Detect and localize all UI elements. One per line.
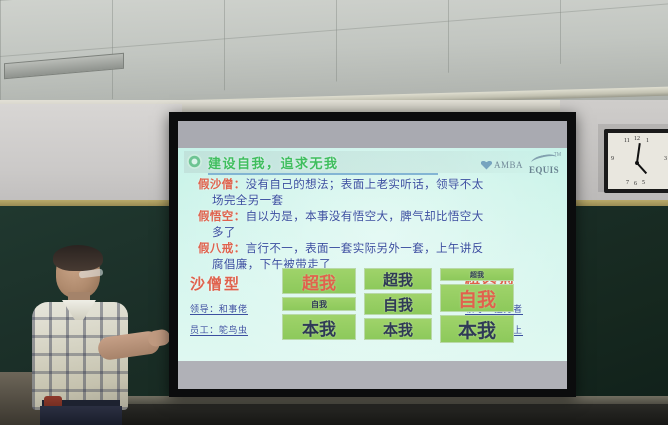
body-line-2-cont: 多了 [198,226,555,241]
left-type-leader-text: 领导：和事佬 [190,304,248,315]
cell-id-2: 本我 [364,318,432,340]
left-type-staff: 员工：鸵鸟虫 [190,323,286,336]
presentation-slide: 建设自我，追求无我 AMBA EQUIS TM 假 [178,148,567,361]
cell-ego-3: 自我 [440,284,514,312]
clock-face: 12 1 3 5 6 7 9 11 [608,133,668,189]
cell-superego-2: 超我 [364,268,432,290]
flower-bullet-icon [187,154,202,169]
presenter [24,248,154,425]
wall-left [0,104,182,214]
clock-number-6: 6 [634,181,637,187]
column-balanced: 超我 自我 本我 [364,268,432,340]
body-line-1-text: 没有自己的想法；表面上老实听话，领导不太 [246,179,484,191]
trademark-icon: TM [554,152,561,158]
equis-logo: EQUIS TM [529,155,559,175]
slide-title-underline [208,173,438,175]
cell-id-3: 本我 [440,315,514,343]
left-type-staff-text: 员工：鸵鸟虫 [190,325,248,336]
body-line-2: 假悟空：自以为是，本事没有悟空大，脾气却比悟空大 [198,210,555,225]
cell-ego-2: 自我 [364,293,432,315]
column-superego-dominant: 超我 自我 本我 [282,268,356,340]
body-line-1-cont: 场完全另一套 [198,194,555,209]
clock-center-pin [635,161,639,165]
cell-superego-1: 超我 [282,268,356,294]
body-line-3: 假八戒：言行不一，表面一套实际另外一套，上午讲反 [198,242,555,257]
clock-number-3: 3 [664,156,667,162]
column-ego-dominant: 超我 自我 本我 [440,268,514,343]
left-personality-type: 沙僧型 领导：和事佬 员工：鸵鸟虫 [190,273,286,336]
amba-logo: AMBA [481,160,523,170]
clock-number-12: 12 [634,136,640,142]
body-line-3-key: 假八戒： [198,243,246,255]
body-line-1-cont-text: 场完全另一套 [198,194,283,209]
accreditation-logos: AMBA EQUIS TM [481,155,559,175]
classroom-scene: 4 5 2 0 4 9 4 4 8 6 5 6 12 1 3 5 6 7 9 1… [0,0,668,425]
screen-top-blank-band [178,121,567,148]
body-line-1: 假沙僧：没有自己的想法；表面上老实听话，领导不太 [198,178,555,193]
clock-number-1: 1 [646,138,649,144]
wall-clock: 12 1 3 5 6 7 9 11 [604,129,668,193]
id-ego-superego-diagram: 超我 自我 本我 超我 自我 本我 超我 自我 本我 [282,268,514,343]
cell-id-1: 本我 [282,314,356,340]
projector-screen[interactable]: 建设自我，追求无我 AMBA EQUIS TM 假 [178,121,567,389]
heart-icon [481,161,492,170]
screen-bottom-blank-band [178,361,567,389]
clock-number-7: 7 [626,180,629,186]
presenter-trousers [40,406,122,425]
body-line-3-text: 言行不一，表面一套实际另外一套，上午讲反 [246,243,484,255]
clock-number-9: 9 [611,156,614,162]
slide-body: 假沙僧：没有自己的想法；表面上老实听话，领导不太 场完全另一套 假悟空：自以为是… [198,178,555,274]
body-line-2-cont-text: 多了 [198,226,236,241]
body-line-2-text: 自以为是，本事没有悟空大，脾气却比悟空大 [246,211,484,223]
cell-superego-3: 超我 [440,268,514,281]
clock-number-5: 5 [642,180,645,186]
cell-ego-1: 自我 [282,297,356,311]
slide-header: 建设自我，追求无我 AMBA EQUIS TM [184,151,561,175]
body-line-2-key: 假悟空： [198,211,246,223]
left-type-leader: 领导：和事佬 [190,302,286,315]
left-type-title: 沙僧型 [190,273,286,294]
amba-logo-text: AMBA [494,160,523,170]
presenter-hair [53,245,103,271]
clock-number-11: 11 [624,138,630,144]
slide-title: 建设自我，追求无我 [208,153,339,172]
body-line-1-key: 假沙僧： [198,179,246,191]
